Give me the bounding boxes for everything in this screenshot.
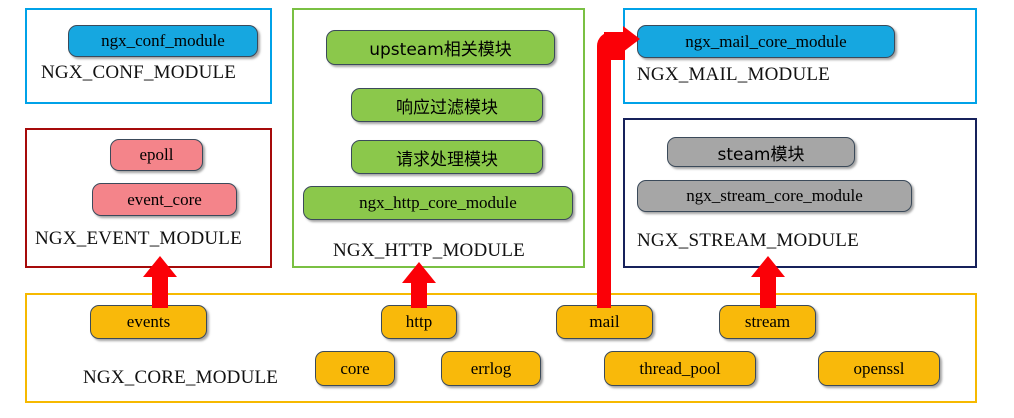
events-arrow-icon — [137, 256, 183, 308]
group-label-ngx-event-module: NGX_EVENT_MODULE — [35, 228, 242, 250]
module-chip-errlog[interactable]: errlog — [441, 351, 541, 386]
group-label-ngx-mail-module: NGX_MAIL_MODULE — [637, 64, 830, 86]
mail-arrow-head — [623, 26, 640, 52]
group-label-ngx-conf-module: NGX_CONF_MODULE — [41, 62, 236, 84]
diagram-canvas: ngx_conf_module NGX_CONF_MODULE epoll ev… — [0, 0, 1014, 418]
module-chip-thread-pool[interactable]: thread_pool — [604, 351, 756, 386]
module-chip-event-core[interactable]: event_core — [92, 183, 237, 216]
http-arrow-head — [402, 262, 436, 283]
group-label-ngx-stream-module: NGX_STREAM_MODULE — [637, 230, 859, 252]
module-chip-ngx-http-core-module[interactable]: ngx_http_core_module — [303, 186, 573, 220]
module-chip-ngx-conf-module[interactable]: ngx_conf_module — [68, 25, 258, 57]
stream-arrow-icon — [745, 256, 791, 308]
group-label-ngx-core-module: NGX_CORE_MODULE — [83, 367, 278, 389]
module-chip-events[interactable]: events — [90, 305, 207, 339]
module-chip-ngx-mail-core-module[interactable]: ngx_mail_core_module — [637, 25, 895, 58]
module-chip-response-filter[interactable]: 响应过滤模块 — [351, 88, 543, 122]
events-arrow-shaft — [152, 276, 168, 308]
module-chip-epoll[interactable]: epoll — [110, 139, 203, 171]
module-chip-stream[interactable]: stream — [719, 305, 816, 339]
module-chip-http[interactable]: http — [381, 305, 457, 339]
group-label-ngx-http-module: NGX_HTTP_MODULE — [333, 240, 525, 262]
events-arrow-head — [143, 256, 177, 277]
module-chip-core[interactable]: core — [315, 351, 395, 386]
module-chip-openssl[interactable]: openssl — [818, 351, 940, 386]
module-chip-request-handler[interactable]: 请求处理模块 — [351, 140, 543, 174]
module-chip-ngx-stream-core-module[interactable]: ngx_stream_core_module — [637, 180, 912, 212]
http-arrow-shaft — [411, 282, 427, 308]
mail-arrow-vertical-shaft — [597, 46, 611, 308]
stream-arrow-head — [751, 256, 785, 277]
module-chip-upstream-related[interactable]: upsteam相关模块 — [326, 30, 555, 65]
http-arrow-icon — [396, 262, 442, 308]
module-chip-mail[interactable]: mail — [556, 305, 653, 339]
stream-arrow-shaft — [760, 276, 776, 308]
module-chip-steam-module[interactable]: steam模块 — [667, 137, 855, 167]
